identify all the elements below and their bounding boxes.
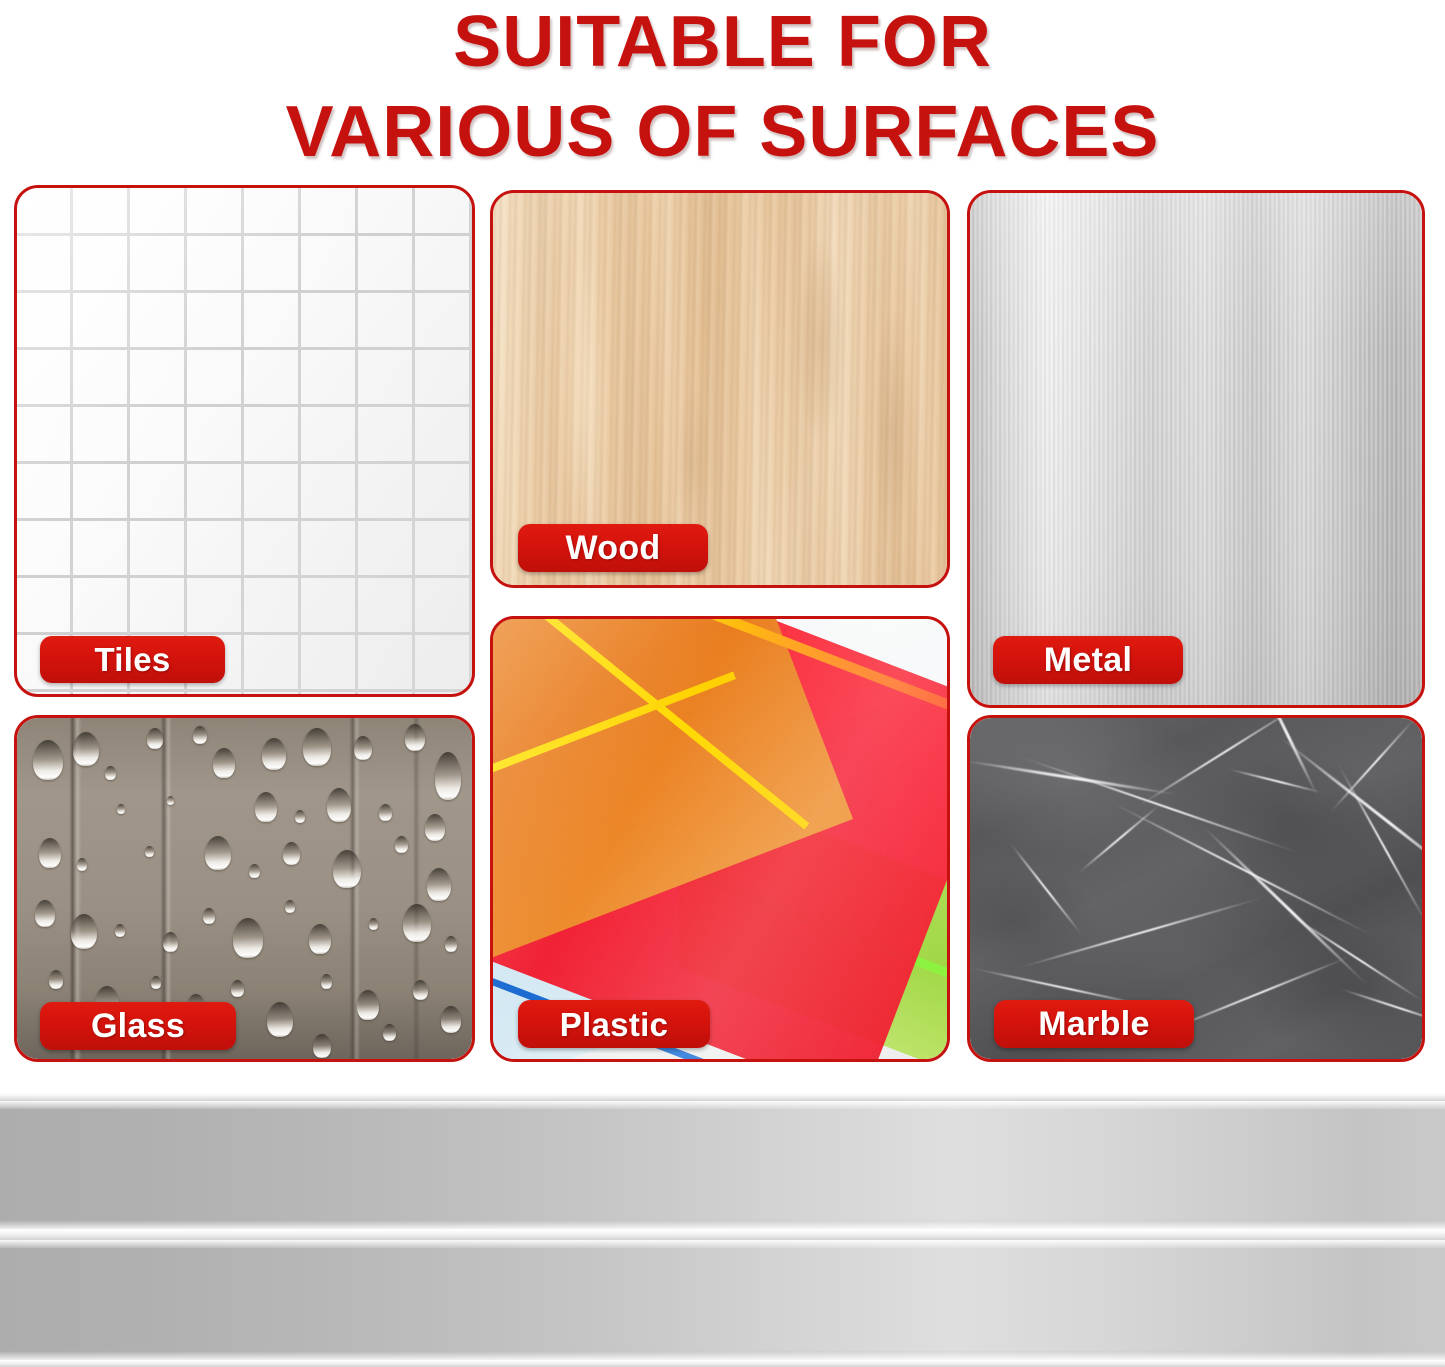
- plastic-gloss-overlay: [493, 619, 947, 1059]
- footer-shelf: [0, 1092, 1445, 1367]
- surface-label-glass: Glass: [40, 1002, 236, 1050]
- surface-card-metal: [967, 190, 1425, 708]
- shelf-bar-lower-base-sheen: [0, 1351, 1445, 1360]
- infographic-canvas: SUITABLE FOR VARIOUS OF SURFACES Tiles W…: [0, 0, 1445, 1367]
- surface-label-glass-text: Glass: [91, 1009, 185, 1043]
- acrylic-sheet-clear: [493, 619, 947, 1059]
- shelf-top-highlight: [0, 1092, 1445, 1101]
- page-title: SUITABLE FOR VARIOUS OF SURFACES: [0, 0, 1445, 165]
- acrylic-edge-orange-bottom: [493, 671, 736, 786]
- tiles-texture: [17, 188, 472, 694]
- metal-sheen-overlay: [970, 193, 1422, 705]
- acrylic-sheet-orange: [493, 619, 853, 991]
- surface-label-metal: Metal: [993, 636, 1183, 684]
- surface-label-plastic: Plastic: [518, 1000, 710, 1048]
- shelf-bar-upper-sheen: [0, 1101, 1445, 1109]
- surface-label-marble-text: Marble: [1038, 1007, 1149, 1041]
- shelf-bar-upper: [0, 1101, 1445, 1229]
- shelf-bar-lower-sheen: [0, 1240, 1445, 1248]
- surface-label-metal-text: Metal: [1044, 643, 1132, 677]
- surface-label-wood: Wood: [518, 524, 708, 572]
- surface-label-tiles: Tiles: [40, 636, 225, 683]
- acrylic-edge-red-top: [657, 619, 947, 749]
- acrylic-sheet-pink: [493, 707, 733, 935]
- tiles-sheen-overlay: [17, 188, 472, 694]
- surface-label-tiles-text: Tiles: [94, 643, 170, 676]
- acrylic-sheet-green: [679, 777, 947, 1059]
- title-line-2: VARIOUS OF SURFACES: [0, 78, 1445, 168]
- surface-card-tiles: [14, 185, 475, 697]
- shelf-bar-lower: [0, 1240, 1445, 1360]
- shelf-bottom-highlight: [0, 1360, 1445, 1367]
- shelf-bar-upper-base-sheen: [0, 1220, 1445, 1229]
- title-line-1: SUITABLE FOR: [0, 0, 1445, 78]
- acrylic-edge-orange-right: [493, 619, 809, 830]
- shelf-mid-highlight: [0, 1229, 1445, 1240]
- metal-texture: [970, 193, 1422, 705]
- surface-label-wood-text: Wood: [566, 531, 661, 565]
- plastic-texture: [493, 619, 947, 1059]
- surface-card-plastic: [490, 616, 950, 1062]
- acrylic-edge-green: [676, 865, 947, 981]
- acrylic-sheet-red: [493, 619, 947, 1059]
- surface-label-marble: Marble: [994, 1000, 1194, 1048]
- surface-label-plastic-text: Plastic: [560, 1008, 669, 1041]
